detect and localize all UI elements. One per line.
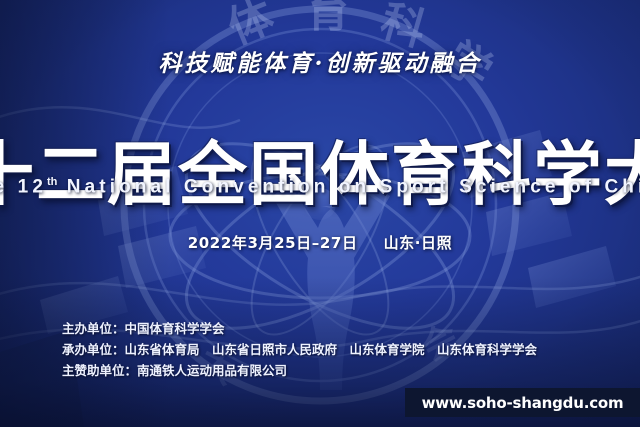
organizer-row: 主赞助单位：南通铁人运动用品有限公司 [62,360,537,381]
organizer-label: 主赞助单位： [62,363,137,378]
organizer-value: 山东省体育局 山东省日照市人民政府 山东体育学院 山东体育科学学会 [125,342,538,357]
date-location-line: 2022年3月25日–27日山东·日照 [0,232,640,253]
banner-content: 科技赋能体育·创新驱动融合 第十二届全国体育科学大会 The 12th Nati… [0,0,640,427]
event-date: 2022年3月25日–27日 [188,234,358,252]
subtitle-part-before: The 12 [0,176,47,197]
watermark-url: www.soho-shangdu.com [422,394,624,412]
english-subtitle: The 12th National Convention on Sport Sc… [0,176,640,198]
event-location: 山东·日照 [384,234,453,252]
organizer-value: 南通铁人运动用品有限公司 [137,363,287,378]
watermark-bar: www.soho-shangdu.com [405,388,640,417]
organizer-value: 中国体育科学学会 [125,321,225,336]
subtitle-part-after: National Convention on Sport Science of … [57,176,640,197]
organizer-row: 主办单位：中国体育科学学会 [62,318,537,339]
organizer-label: 主办单位： [62,321,125,336]
organizer-block: 主办单位：中国体育科学学会 承办单位：山东省体育局 山东省日照市人民政府 山东体… [62,318,537,381]
subtitle-ordinal-suffix: th [47,176,57,188]
banner-tagline: 科技赋能体育·创新驱动融合 [0,44,640,78]
organizer-label: 承办单位： [62,342,125,357]
organizer-row: 承办单位：山东省体育局 山东省日照市人民政府 山东体育学院 山东体育科学学会 [62,339,537,360]
conference-banner: 体 育 科 学 大 会 [0,0,640,427]
